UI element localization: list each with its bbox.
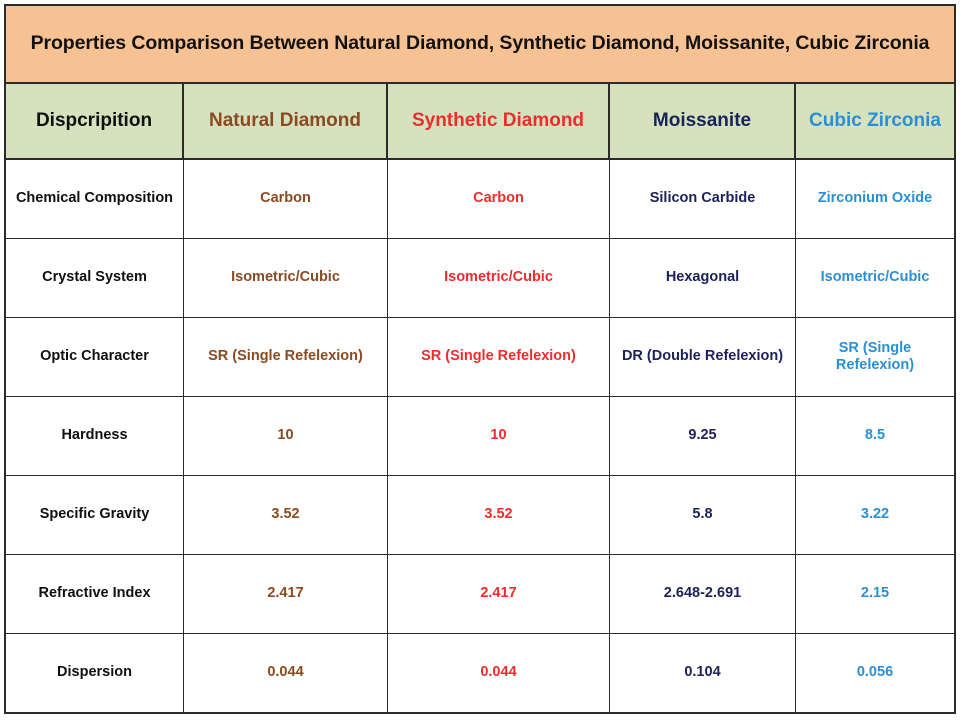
cell-natural-diamond: 3.52 [184, 476, 388, 554]
cell-moissanite: 5.8 [610, 476, 796, 554]
table-row: Crystal System Isometric/Cubic Isometric… [6, 239, 954, 318]
cell-natural-diamond: 0.044 [184, 634, 388, 712]
table-header-row: Dispcripition Natural Diamond Synthetic … [6, 84, 954, 160]
cell-synthetic-diamond: 10 [388, 397, 610, 475]
table-frame: Properties Comparison Between Natural Di… [4, 4, 956, 714]
cell-synthetic-diamond: SR (Single Refelexion) [388, 318, 610, 396]
cell-natural-diamond: SR (Single Refelexion) [184, 318, 388, 396]
cell-moissanite: DR (Double Refelexion) [610, 318, 796, 396]
row-property-label: Optic Character [6, 318, 184, 396]
row-property-label: Crystal System [6, 239, 184, 317]
cell-natural-diamond: 10 [184, 397, 388, 475]
table-row: Refractive Index 2.417 2.417 2.648-2.691… [6, 555, 954, 634]
cell-cubic-zirconia: Zirconium Oxide [796, 160, 954, 238]
cell-cubic-zirconia: 0.056 [796, 634, 954, 712]
cell-cubic-zirconia: Isometric/Cubic [796, 239, 954, 317]
cell-moissanite: Silicon Carbide [610, 160, 796, 238]
cell-synthetic-diamond: Isometric/Cubic [388, 239, 610, 317]
page-title: Properties Comparison Between Natural Di… [31, 32, 930, 55]
cell-synthetic-diamond: Carbon [388, 160, 610, 238]
row-property-label: Refractive Index [6, 555, 184, 633]
table-row: Chemical Composition Carbon Carbon Silic… [6, 160, 954, 239]
table-row: Optic Character SR (Single Refelexion) S… [6, 318, 954, 397]
table-row: Dispersion 0.044 0.044 0.104 0.056 [6, 634, 954, 712]
cell-moissanite: 2.648-2.691 [610, 555, 796, 633]
column-header-cubic-zirconia: Cubic Zirconia [796, 84, 954, 158]
cell-natural-diamond: Isometric/Cubic [184, 239, 388, 317]
table-title-band: Properties Comparison Between Natural Di… [6, 6, 954, 84]
cell-cubic-zirconia: SR (Single Refelexion) [796, 318, 954, 396]
cell-synthetic-diamond: 2.417 [388, 555, 610, 633]
cell-natural-diamond: Carbon [184, 160, 388, 238]
cell-moissanite: 9.25 [610, 397, 796, 475]
cell-cubic-zirconia: 2.15 [796, 555, 954, 633]
table-row: Specific Gravity 3.52 3.52 5.8 3.22 [6, 476, 954, 555]
column-header-natural-diamond: Natural Diamond [184, 84, 388, 158]
cell-moissanite: Hexagonal [610, 239, 796, 317]
comparison-table: Properties Comparison Between Natural Di… [0, 0, 960, 720]
cell-moissanite: 0.104 [610, 634, 796, 712]
row-property-label: Specific Gravity [6, 476, 184, 554]
cell-cubic-zirconia: 3.22 [796, 476, 954, 554]
column-header-description: Dispcripition [6, 84, 184, 158]
row-property-label: Chemical Composition [6, 160, 184, 238]
table-row: Hardness 10 10 9.25 8.5 [6, 397, 954, 476]
table-body: Chemical Composition Carbon Carbon Silic… [6, 160, 954, 712]
cell-synthetic-diamond: 0.044 [388, 634, 610, 712]
row-property-label: Dispersion [6, 634, 184, 712]
cell-cubic-zirconia: 8.5 [796, 397, 954, 475]
cell-synthetic-diamond: 3.52 [388, 476, 610, 554]
column-header-moissanite: Moissanite [610, 84, 796, 158]
cell-natural-diamond: 2.417 [184, 555, 388, 633]
column-header-synthetic-diamond: Synthetic Diamond [388, 84, 610, 158]
row-property-label: Hardness [6, 397, 184, 475]
